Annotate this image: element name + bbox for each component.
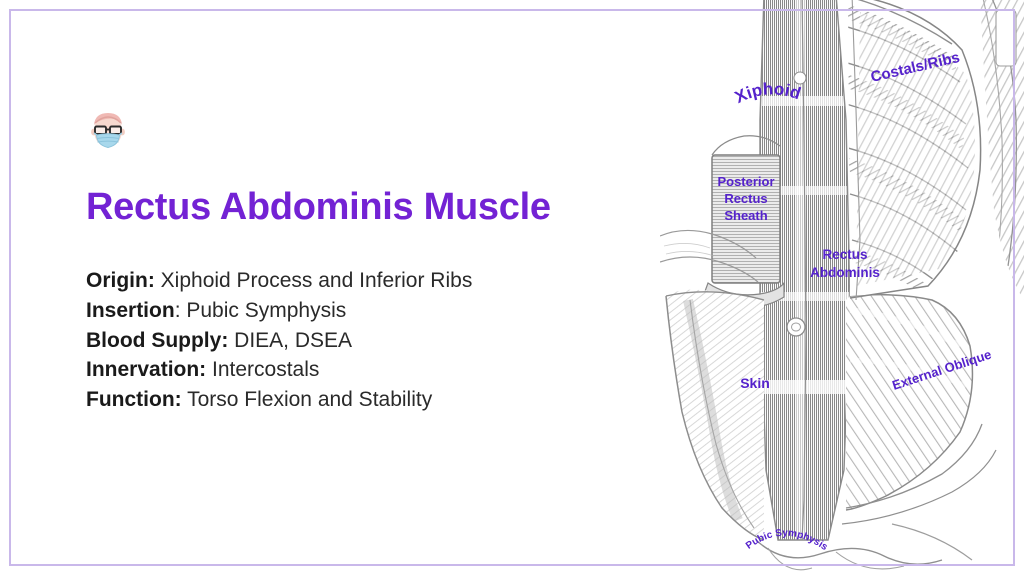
fact-value-blood-supply: DIEA, DSEA — [228, 329, 352, 352]
muscle-facts-list: Origin: Xiphoid Process and Inferior Rib… — [86, 266, 646, 415]
fact-value-innervation: Intercostals — [206, 358, 319, 381]
fact-row-origin: Origin: Xiphoid Process and Inferior Rib… — [86, 266, 646, 296]
label-rectus-abdominis-line1: Rectus — [822, 247, 867, 262]
label-skin: Skin — [740, 375, 770, 391]
fact-label-innervation: Innervation: — [86, 358, 206, 381]
fact-label-insertion: Insertion — [86, 299, 175, 322]
fact-row-blood-supply: Blood Supply: DIEA, DSEA — [86, 326, 646, 356]
fact-value-origin: Xiphoid Process and Inferior Ribs — [155, 269, 473, 292]
fact-row-innervation: Innervation: Intercostals — [86, 355, 646, 385]
fact-label-function: Function: — [86, 388, 182, 411]
label-posterior-rectus-sheath-line3: Sheath — [724, 208, 767, 223]
fact-value-function: Torso Flexion and Stability — [182, 388, 433, 411]
lateral-limb-region — [976, 0, 1024, 310]
costals-ribs-region — [840, 0, 1000, 310]
fact-value-insertion: : Pubic Symphysis — [175, 299, 347, 322]
label-posterior-rectus-sheath-line1: Posterior — [717, 174, 774, 189]
page-title: Rectus Abdominis Muscle — [86, 188, 646, 228]
fact-label-origin: Origin: — [86, 269, 155, 292]
slide-root: Xiphoid Costals/Ribs Posterior Rectus Sh… — [0, 0, 1024, 576]
anatomy-illustration: Xiphoid Costals/Ribs Posterior Rectus Sh… — [660, 0, 1024, 576]
content-column: Rectus Abdominis Muscle Origin: Xiphoid … — [86, 108, 646, 415]
external-oblique-region — [840, 286, 996, 526]
label-rectus-abdominis-line2: Abdominis — [810, 265, 880, 280]
fact-label-blood-supply: Blood Supply: — [86, 329, 228, 352]
fact-row-insertion: Insertion: Pubic Symphysis — [86, 296, 646, 326]
fact-row-function: Function: Torso Flexion and Stability — [86, 385, 646, 415]
doctor-face-mask-icon — [86, 108, 130, 152]
label-posterior-rectus-sheath-line2: Rectus — [724, 191, 767, 206]
